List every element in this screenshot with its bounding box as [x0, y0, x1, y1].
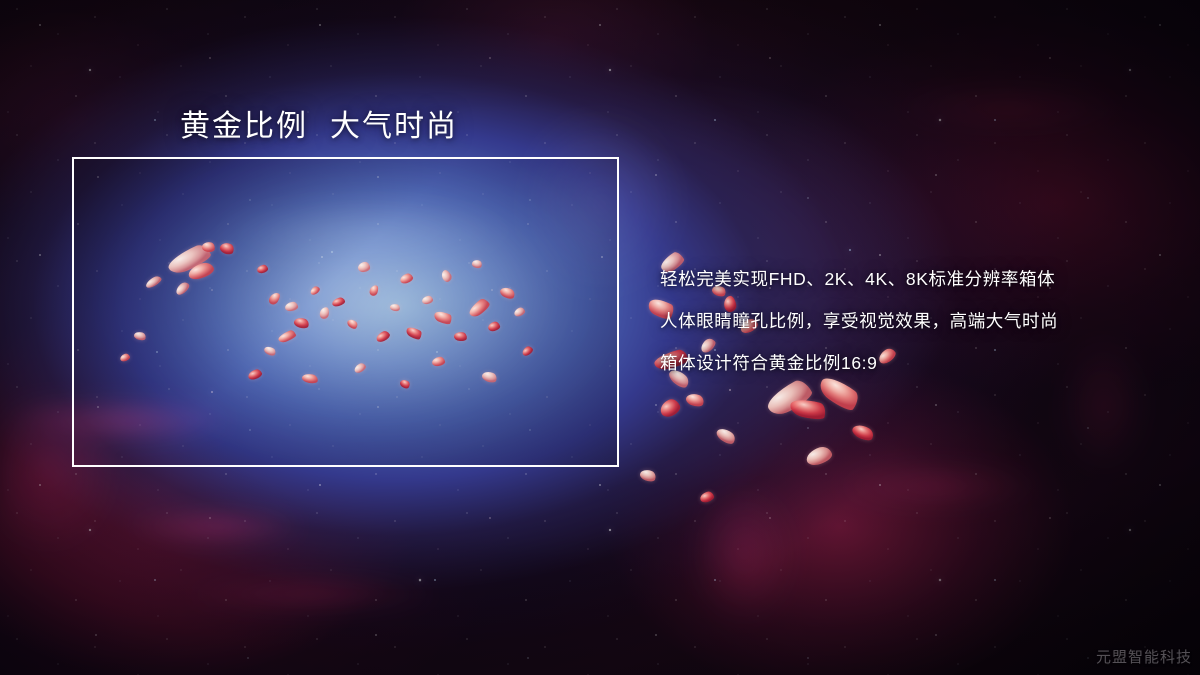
petal: [421, 295, 433, 305]
petal: [521, 345, 535, 358]
petal: [353, 362, 367, 375]
petal: [247, 368, 263, 381]
petal: [788, 396, 827, 422]
petal: [699, 490, 715, 503]
petal: [201, 241, 216, 253]
petal: [277, 329, 297, 344]
petal: [399, 378, 412, 390]
watermark: 元盟智能科技: [1096, 646, 1192, 667]
petal: [389, 303, 400, 312]
petal: [331, 296, 346, 307]
petal: [263, 345, 277, 358]
petal: [499, 285, 517, 301]
petal: [256, 264, 268, 274]
petal: [174, 280, 191, 297]
petal: [658, 397, 683, 420]
petal: [440, 269, 454, 284]
petal: [144, 274, 163, 289]
preview-petals-layer: [74, 159, 617, 465]
petal: [481, 370, 499, 385]
body-line-1: 轻松完美实现FHD、2K、4K、8K标准分辨率箱体: [660, 258, 1180, 300]
petal: [804, 444, 834, 467]
slide-title: 黄金比例大气时尚: [180, 101, 458, 145]
petal: [119, 353, 131, 363]
petal: [319, 306, 330, 320]
petal: [433, 309, 454, 326]
petal: [487, 321, 501, 333]
preview-frame-inner: [74, 159, 617, 465]
petal: [368, 284, 379, 297]
body-line-2: 人体眼睛瞳孔比例，享受视觉效果，高端大气时尚: [660, 300, 1180, 342]
petal: [218, 241, 235, 256]
petal: [471, 259, 483, 270]
petal: [467, 297, 492, 320]
petal: [714, 425, 737, 446]
petal: [346, 317, 360, 330]
petal: [405, 325, 424, 342]
petal: [293, 316, 310, 330]
petal: [850, 422, 875, 443]
body-line-3: 箱体设计符合黄金比例16:9: [660, 342, 1180, 384]
petal: [375, 329, 392, 343]
petal: [513, 306, 526, 318]
presentation-slide: 黄金比例大气时尚 轻松完美实现FHD、2K、4K、8K标准分辨率箱体 人体眼睛瞳…: [0, 0, 1200, 675]
petal: [165, 242, 213, 277]
petal: [639, 468, 658, 484]
petal: [453, 331, 467, 342]
nebula-preview-frame: [72, 157, 619, 467]
petal: [309, 285, 321, 296]
petal: [685, 392, 706, 409]
slide-body-text: 轻松完美实现FHD、2K、4K、8K标准分辨率箱体 人体眼睛瞳孔比例，享受视觉效…: [660, 258, 1180, 384]
slide-title-part-one: 黄金比例: [180, 110, 308, 143]
petal: [399, 272, 414, 285]
petal: [284, 301, 298, 312]
petal: [267, 291, 282, 307]
petal: [186, 260, 215, 281]
petal: [301, 372, 319, 384]
petal: [358, 261, 371, 272]
slide-title-part-two: 大气时尚: [330, 110, 458, 143]
petal: [133, 331, 147, 342]
petal: [431, 356, 445, 367]
